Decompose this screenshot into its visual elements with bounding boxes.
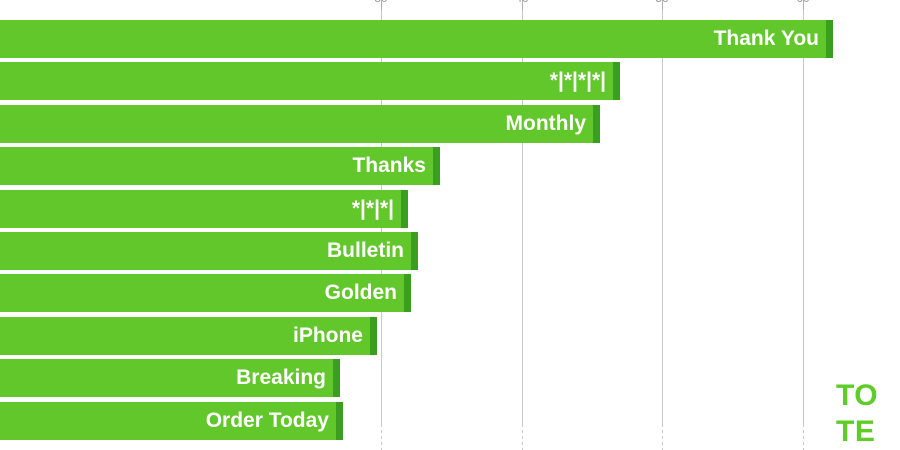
gridline-dashed-tail — [662, 424, 663, 450]
bar-end-cap — [593, 105, 600, 143]
bar-category-label: Bulletin — [327, 232, 404, 270]
chart-viewport: 30405060 %Thank You%*|*|*|*|%Monthly%Tha… — [0, 0, 900, 450]
callout-text-block: TO TE — [836, 378, 900, 450]
bar-category-label: Thanks — [352, 147, 426, 185]
bar[interactable] — [0, 190, 408, 228]
bar-row[interactable]: %Monthly — [0, 105, 600, 143]
plot-area: 30405060 %Thank You%*|*|*|*|%Monthly%Tha… — [0, 0, 900, 450]
bar-row[interactable]: %Thanks — [0, 147, 440, 185]
callout-line-1: TO — [836, 378, 900, 414]
bar-row[interactable]: %iPhone — [0, 317, 377, 355]
bar-end-cap — [336, 402, 343, 440]
bar-end-cap — [404, 274, 411, 312]
bar-category-label: Order Today — [206, 402, 329, 440]
bar[interactable] — [0, 62, 620, 100]
bar-category-label: iPhone — [293, 317, 363, 355]
gridline-dashed-tail — [381, 424, 382, 450]
gridline-dashed-tail — [522, 424, 523, 450]
bar-end-cap — [333, 359, 340, 397]
tick-label: 30 — [374, 0, 387, 5]
gridline — [803, 0, 804, 424]
gridline-dashed-tail — [803, 424, 804, 450]
bar-category-label: *|*|*|*| — [550, 62, 606, 100]
callout-line-2: TE — [836, 414, 900, 450]
bar-end-cap — [433, 147, 440, 185]
bar-end-cap — [370, 317, 377, 355]
bar-end-cap — [411, 232, 418, 270]
gridline — [662, 0, 663, 424]
bar-row[interactable]: %*|*|*|*| — [0, 62, 620, 100]
bar-end-cap — [826, 20, 833, 58]
bar-row[interactable]: %Breaking — [0, 359, 340, 397]
tick-label: 50 — [655, 0, 668, 5]
bar-category-label: Breaking — [236, 359, 326, 397]
bar-category-label: Golden — [325, 274, 397, 312]
bar-end-cap — [401, 190, 408, 228]
bar-row[interactable]: %Order Today — [0, 402, 343, 440]
tick-label: 40 — [515, 0, 528, 5]
bar-row[interactable]: %*|*|*| — [0, 190, 408, 228]
tick-label: 60 — [796, 0, 809, 5]
bar-row[interactable]: %Thank You — [0, 20, 833, 58]
bar-category-label: Thank You — [714, 20, 819, 58]
bar-row[interactable]: %Bulletin — [0, 232, 418, 270]
bar-category-label: Monthly — [506, 105, 586, 143]
bar[interactable] — [0, 20, 833, 58]
bar-category-label: *|*|*| — [352, 190, 394, 228]
bar-end-cap — [613, 62, 620, 100]
bar-row[interactable]: %Golden — [0, 274, 411, 312]
